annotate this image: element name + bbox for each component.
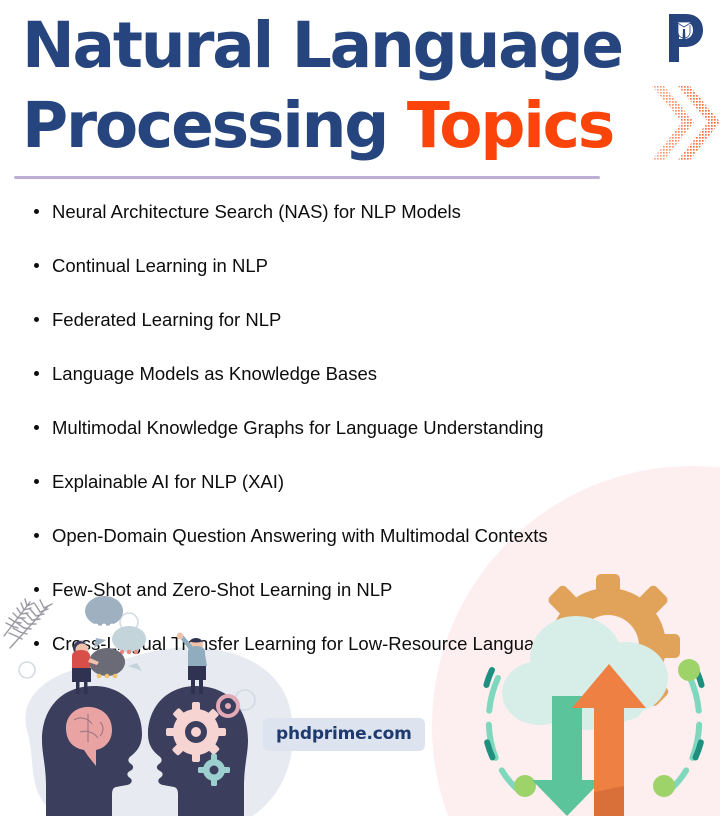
- title-line-1: Natural Language: [22, 6, 662, 86]
- head-silhouette-gears: [148, 686, 248, 816]
- orbit-dot: [514, 775, 536, 797]
- list-item-label: Federated Learning for NLP: [52, 309, 281, 330]
- watermark-badge: phdprime.com: [263, 718, 425, 751]
- list-item-label: Open-Domain Question Answering with Mult…: [52, 525, 548, 546]
- list-item: Language Models as Knowledge Bases: [30, 358, 710, 412]
- orbit-dot: [678, 659, 700, 681]
- list-item: Continual Learning in NLP: [30, 250, 710, 304]
- head-silhouette-brain: [42, 686, 142, 816]
- poster-canvas: Natural Language Processing Topics: [0, 0, 720, 816]
- bullet-icon: [34, 479, 39, 484]
- bullet-icon: [34, 425, 39, 430]
- list-item-label: Multimodal Knowledge Graphs for Language…: [52, 417, 544, 438]
- page-title: Natural Language Processing Topics: [22, 6, 662, 166]
- list-item-label: Language Models as Knowledge Bases: [52, 363, 377, 384]
- speech-bubble-group: [85, 596, 146, 699]
- list-item-label: Explainable AI for NLP (XAI): [52, 471, 284, 492]
- bullet-icon: [34, 533, 39, 538]
- list-item: Federated Learning for NLP: [30, 304, 710, 358]
- double-chevron-right-icon: [648, 74, 720, 174]
- title-line-2-accent: Topics: [407, 89, 613, 162]
- phdprime-p-logo-icon: [656, 10, 708, 66]
- orbit-dot: [653, 775, 675, 797]
- list-item-label: Continual Learning in NLP: [52, 255, 268, 276]
- bullet-icon: [34, 209, 39, 214]
- bullet-icon: [34, 263, 39, 268]
- list-item: Explainable AI for NLP (XAI): [30, 466, 710, 520]
- title-line-2-main: Processing: [22, 89, 407, 162]
- bullet-icon: [34, 371, 39, 376]
- person-figure-right: [177, 633, 207, 697]
- list-item: Neural Architecture Search (NAS) for NLP…: [30, 196, 710, 250]
- title-divider: [14, 176, 600, 179]
- bullet-icon: [34, 317, 39, 322]
- title-line-2: Processing Topics: [22, 86, 662, 166]
- decorative-circle-outline: [19, 662, 35, 678]
- cloud-computing-illustration: [468, 548, 720, 816]
- two-heads-communication-illustration: [0, 590, 310, 816]
- list-item-label: Neural Architecture Search (NAS) for NLP…: [52, 201, 461, 222]
- list-item: Multimodal Knowledge Graphs for Language…: [30, 412, 710, 466]
